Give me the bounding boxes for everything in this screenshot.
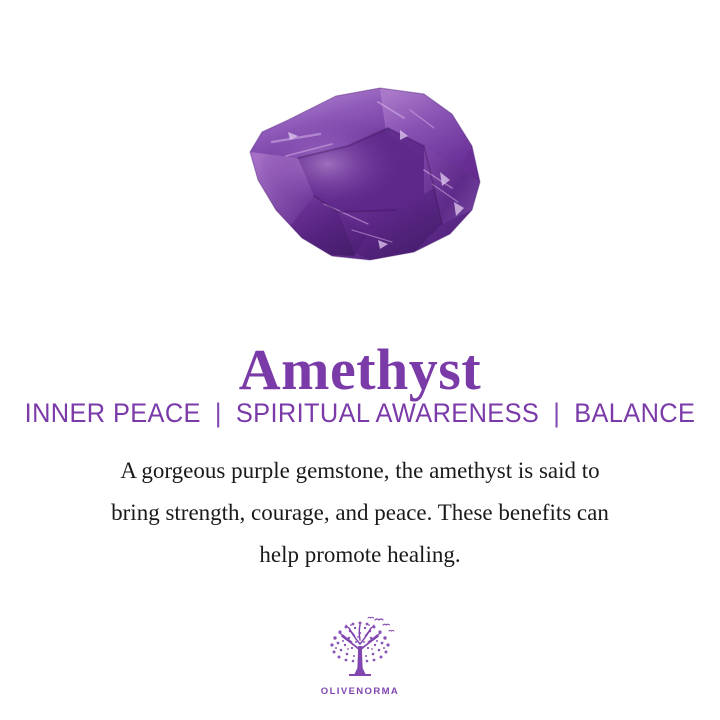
birds-icon [368, 617, 394, 631]
description-line: A gorgeous purple gemstone, the amethyst… [40, 450, 680, 492]
keyword-separator: | [208, 398, 228, 428]
keyword-balance: BALANCE [574, 398, 695, 428]
amethyst-gemstone-image [228, 84, 494, 266]
description-line: bring strength, courage, and peace. Thes… [40, 492, 680, 534]
keyword-spiritual-awareness: SPIRITUAL AWARENESS [236, 398, 539, 428]
keyword-list: INNER PEACE | SPIRITUAL AWARENESS | BALA… [22, 397, 699, 429]
gemstone-body [228, 84, 494, 266]
tree-of-life-icon [319, 616, 401, 684]
description-paragraph: A gorgeous purple gemstone, the amethyst… [40, 450, 680, 576]
amethyst-gemstone-illustration [228, 84, 494, 266]
brand-logo: OLIVENORMA [305, 616, 415, 697]
brand-wordmark: OLIVENORMA [305, 686, 415, 697]
amethyst-info-card: Amethyst INNER PEACE | SPIRITUAL AWARENE… [0, 0, 720, 720]
keyword-inner-peace: INNER PEACE [25, 398, 201, 428]
page-title: Amethyst [0, 339, 720, 401]
keyword-separator: | [547, 398, 567, 428]
description-line: help promote healing. [40, 534, 680, 576]
